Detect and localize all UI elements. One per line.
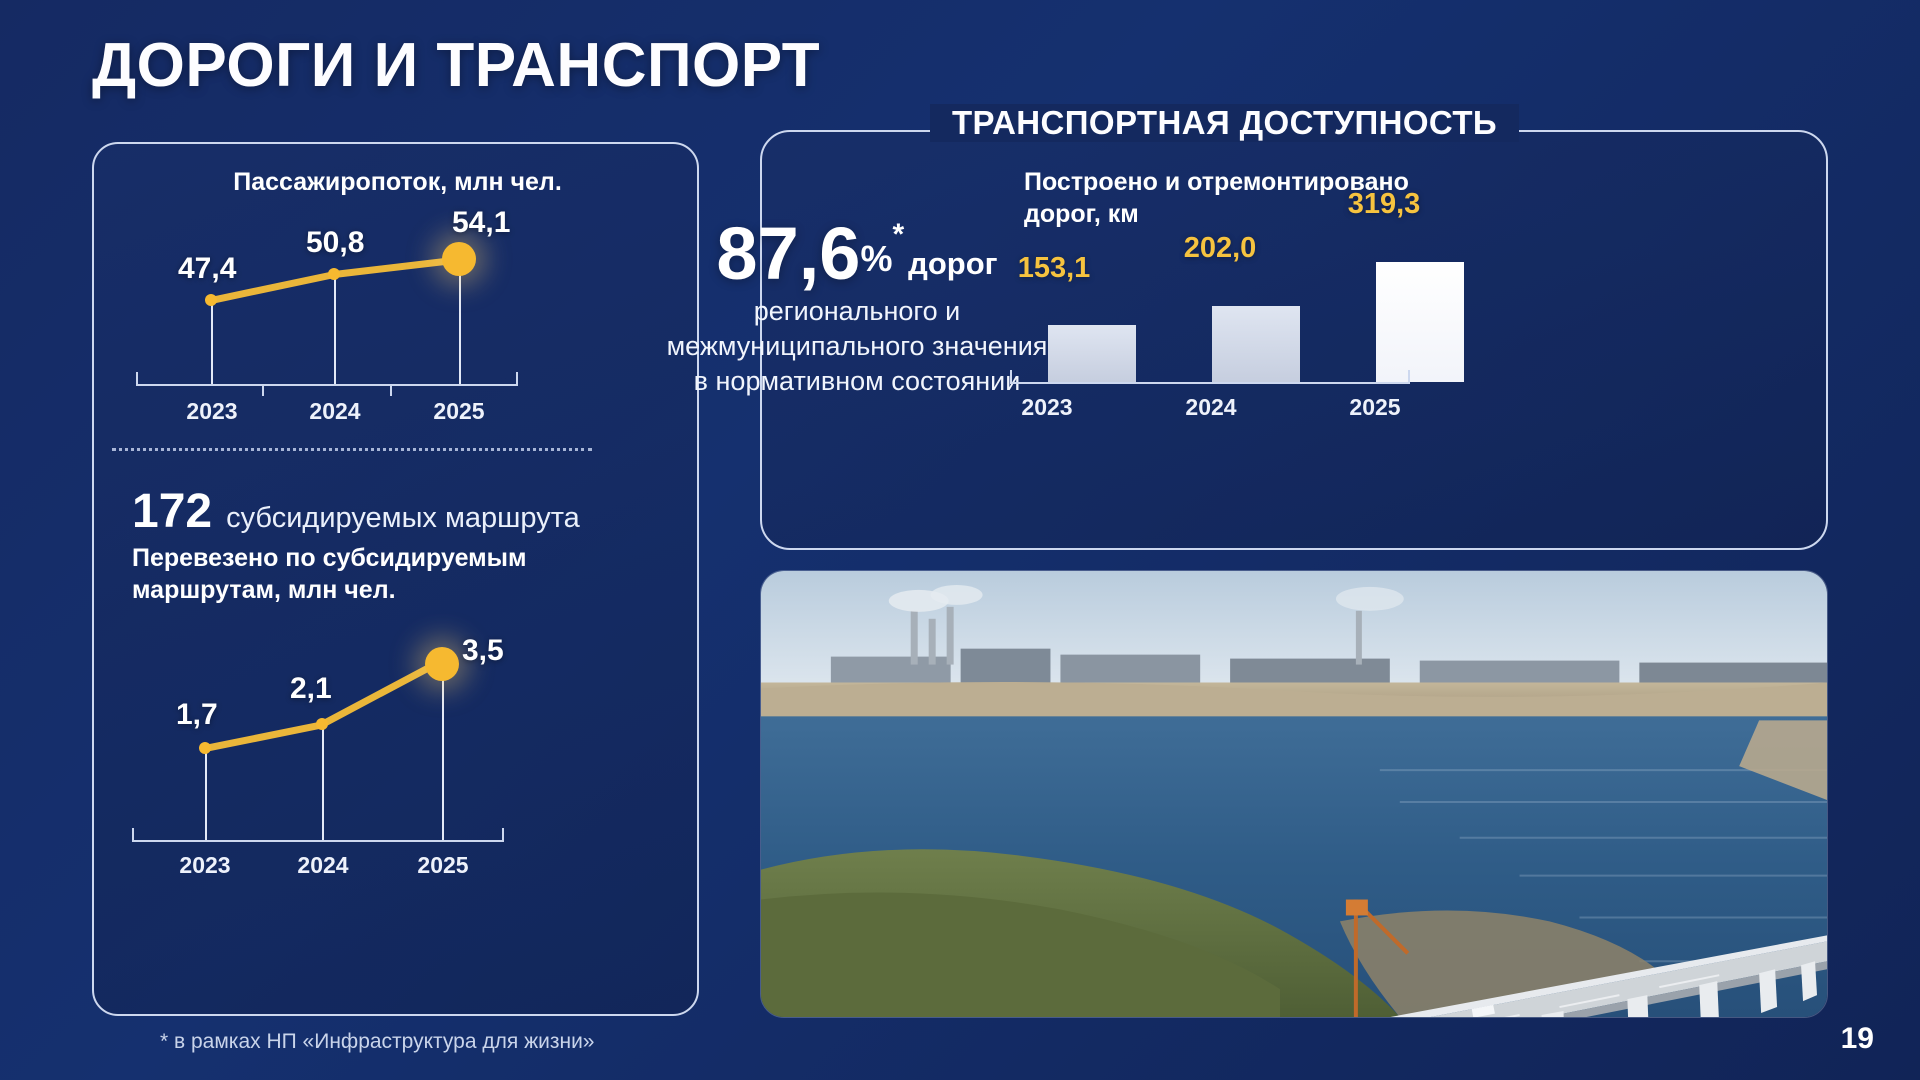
x-label-2025: 2025 xyxy=(414,398,504,425)
value-label2-2025: 3,5 xyxy=(462,634,504,668)
x-axis xyxy=(136,384,518,386)
x-label2-2025: 2025 xyxy=(398,852,488,879)
x-label-2023: 2023 xyxy=(167,398,257,425)
footnote-asterisk: * xyxy=(892,220,904,250)
bar-x-axis-left-cap xyxy=(1010,370,1012,384)
subsidized-routes-headline: 172 субсидируемых маршрута xyxy=(132,484,580,539)
x-axis2 xyxy=(132,840,504,842)
x-label-2024: 2024 xyxy=(290,398,380,425)
bar-x-label-2024: 2024 xyxy=(1166,394,1256,421)
data-point-2025-highlight xyxy=(442,242,476,276)
bar-2023 xyxy=(1048,325,1136,382)
x-axis-right-cap xyxy=(516,372,518,386)
bar-x-label-2025: 2025 xyxy=(1330,394,1420,421)
data-point-2024 xyxy=(328,268,340,280)
stem-2024 xyxy=(334,274,336,384)
chart-title-subsidized-routes: Перевезено по субсидируемым маршрутам, м… xyxy=(132,542,562,606)
data-point2-2025-highlight xyxy=(425,647,459,681)
subsidized-routes-text: субсидируемых маршрута xyxy=(226,502,580,535)
page-number: 19 xyxy=(1841,1022,1874,1056)
bar-x-label-2023: 2023 xyxy=(1002,394,1092,421)
subsidized-routes-number: 172 xyxy=(132,484,212,539)
page-title: ДОРОГИ И ТРАНСПОРТ xyxy=(92,30,820,101)
bar-2025 xyxy=(1376,262,1464,382)
data-point2-2023 xyxy=(199,742,211,754)
chart-title-passenger-flow: Пассажиропоток, млн чел. xyxy=(94,168,701,197)
normative-roads-value: 87,6 xyxy=(716,220,860,288)
stem-2023 xyxy=(211,300,213,384)
line2-segment-2024-2025 xyxy=(320,660,438,727)
value-label2-2023: 1,7 xyxy=(176,698,218,732)
bar-value-2025: 319,3 xyxy=(1304,188,1464,221)
stem-2025 xyxy=(459,259,461,384)
x-label2-2023: 2023 xyxy=(160,852,250,879)
bridge-photo xyxy=(760,570,1828,1018)
left-panel: Пассажиропоток, млн чел. 47,4 50,8 54,1 … xyxy=(92,142,699,1016)
bar-x-axis xyxy=(1010,382,1410,384)
x-tick-1 xyxy=(262,384,264,396)
footnote: * в рамках НП «Инфраструктура для жизни» xyxy=(160,1030,594,1054)
normative-roads-description: регионального и межмуниципального значен… xyxy=(662,294,1052,399)
right-panel-title: ТРАНСПОРТНАЯ ДОСТУПНОСТЬ xyxy=(930,104,1519,142)
x-axis-left-cap xyxy=(136,372,138,386)
line2-segment-2023-2024 xyxy=(204,721,323,752)
value-label2-2024: 2,1 xyxy=(290,672,332,706)
x-axis2-right-cap xyxy=(502,828,504,842)
x-axis2-left-cap xyxy=(132,828,134,842)
stem2-2023 xyxy=(205,748,207,840)
stem2-2025 xyxy=(442,662,444,840)
data-point2-2024 xyxy=(316,718,328,730)
x-label2-2024: 2024 xyxy=(278,852,368,879)
bar-value-2024: 202,0 xyxy=(1140,232,1300,265)
bar-x-axis-right-cap xyxy=(1408,370,1410,384)
normative-roads-stat: 87,6 % * дорог регионального и межмуници… xyxy=(662,220,1052,399)
bar-value-2023: 153,1 xyxy=(974,252,1134,285)
bar-2024 xyxy=(1212,306,1300,382)
value-label-2023: 47,4 xyxy=(178,252,236,286)
x-tick-2 xyxy=(390,384,392,396)
section-divider xyxy=(112,448,592,451)
data-point-2023 xyxy=(205,294,217,306)
value-label-2025: 54,1 xyxy=(452,206,510,240)
stem2-2024 xyxy=(322,724,324,840)
percent-sign: % xyxy=(860,238,892,288)
right-panel: 87,6 % * дорог регионального и межмуници… xyxy=(760,130,1828,550)
value-label-2024: 50,8 xyxy=(306,226,364,260)
